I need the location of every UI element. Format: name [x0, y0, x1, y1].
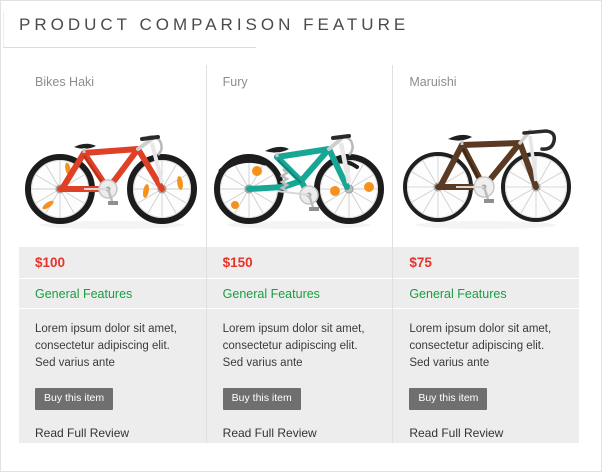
read-full-review-link-2[interactable]: Read Full Review	[223, 426, 377, 440]
product-price-3: $75	[393, 247, 579, 279]
comparison-panel: Bikes Haki	[19, 65, 579, 443]
product-features-heading-2: General Features	[207, 279, 393, 309]
product-body-2: Lorem ipsum dolor sit amet, consectetur …	[207, 309, 393, 443]
title-underline	[3, 47, 256, 48]
product-price-1: $100	[19, 247, 206, 279]
brown-road-bike-icon	[396, 109, 576, 237]
product-image-2	[207, 99, 393, 247]
product-comparison-page: PRODUCT COMPARISON FEATURE Bikes Haki	[0, 0, 602, 472]
product-price-2: $150	[207, 247, 393, 279]
buy-this-item-button-1[interactable]: Buy this item	[35, 388, 113, 410]
product-description-1: Lorem ipsum dolor sit amet, consectetur …	[35, 321, 187, 372]
teal-suspension-bike-icon	[209, 109, 389, 237]
product-features-heading-1: General Features	[19, 279, 206, 309]
product-image-3	[393, 99, 579, 247]
page-title: PRODUCT COMPARISON FEATURE	[19, 15, 409, 35]
read-full-review-link-3[interactable]: Read Full Review	[409, 426, 563, 440]
product-column-fury: Fury	[206, 65, 393, 443]
product-features-heading-3: General Features	[393, 279, 579, 309]
product-column-maruishi: Maruishi	[392, 65, 579, 443]
product-body-3: Lorem ipsum dolor sit amet, consectetur …	[393, 309, 579, 443]
read-full-review-link-1[interactable]: Read Full Review	[35, 426, 190, 440]
page-header: PRODUCT COMPARISON FEATURE	[1, 11, 603, 51]
product-title-1: Bikes Haki	[19, 65, 206, 99]
product-column-bikes-haki: Bikes Haki	[19, 65, 206, 443]
product-title-3: Maruishi	[393, 65, 579, 99]
buy-this-item-button-3[interactable]: Buy this item	[409, 388, 487, 410]
product-title-2: Fury	[207, 65, 393, 99]
product-body-1: Lorem ipsum dolor sit amet, consectetur …	[19, 309, 206, 443]
header-left-rule	[3, 11, 4, 47]
red-mountain-bike-icon	[22, 109, 202, 237]
product-description-2: Lorem ipsum dolor sit amet, consectetur …	[223, 321, 375, 372]
product-description-3: Lorem ipsum dolor sit amet, consectetur …	[409, 321, 561, 372]
buy-this-item-button-2[interactable]: Buy this item	[223, 388, 301, 410]
product-image-1	[19, 99, 206, 247]
